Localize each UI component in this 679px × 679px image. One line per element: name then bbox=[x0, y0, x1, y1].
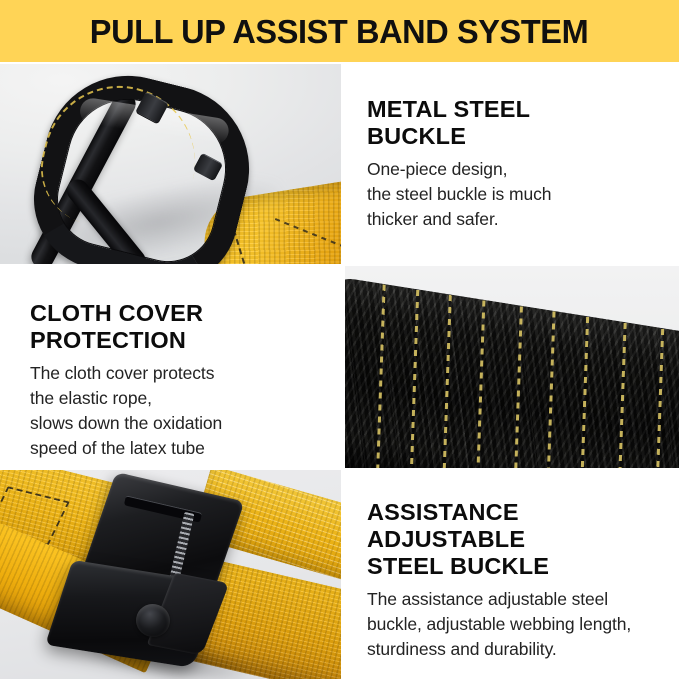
cloth-cover-protection-body: The cloth cover protects the elastic rop… bbox=[30, 361, 327, 461]
metal-steel-buckle-body: One-piece design, the steel buckle is mu… bbox=[367, 157, 665, 232]
braided-sleeve-photo bbox=[345, 266, 679, 468]
metal-steel-buckle-heading: METAL STEEL BUCKLE bbox=[367, 96, 665, 150]
braided-sleeve-yellow-threads bbox=[345, 275, 679, 468]
carabiner-photo-cell bbox=[0, 64, 341, 264]
metal-steel-buckle-panel: METAL STEEL BUCKLE One-piece design, the… bbox=[345, 64, 679, 232]
metal-steel-buckle-cell: METAL STEEL BUCKLE One-piece design, the… bbox=[345, 64, 679, 264]
adjustable-buckle-photo-cell bbox=[0, 470, 341, 679]
adjustable-buckle-photo bbox=[0, 470, 341, 679]
carabiner-photo bbox=[0, 64, 341, 264]
infographic-page: PULL UP ASSIST BAND SYSTEM METAL STEEL B… bbox=[0, 0, 679, 679]
page-title: PULL UP ASSIST BAND SYSTEM bbox=[90, 15, 588, 48]
cloth-cover-protection-heading: CLOTH COVER PROTECTION bbox=[30, 300, 327, 354]
assistance-adjustable-steel-buckle-heading: ASSISTANCE ADJUSTABLE STEEL BUCKLE bbox=[367, 499, 665, 580]
assistance-adjustable-steel-buckle-panel: ASSISTANCE ADJUSTABLE STEEL BUCKLE The a… bbox=[345, 472, 679, 662]
assistance-adjustable-steel-buckle-body: The assistance adjustable steel buckle, … bbox=[367, 587, 665, 662]
assistance-adjustable-steel-buckle-cell: ASSISTANCE ADJUSTABLE STEEL BUCKLE The a… bbox=[345, 472, 679, 679]
header-bar: PULL UP ASSIST BAND SYSTEM bbox=[0, 0, 679, 62]
braided-sleeve-photo-cell bbox=[345, 266, 679, 468]
cloth-cover-protection-panel: CLOTH COVER PROTECTION The cloth cover p… bbox=[0, 268, 341, 461]
cloth-cover-protection-cell: CLOTH COVER PROTECTION The cloth cover p… bbox=[0, 268, 341, 468]
